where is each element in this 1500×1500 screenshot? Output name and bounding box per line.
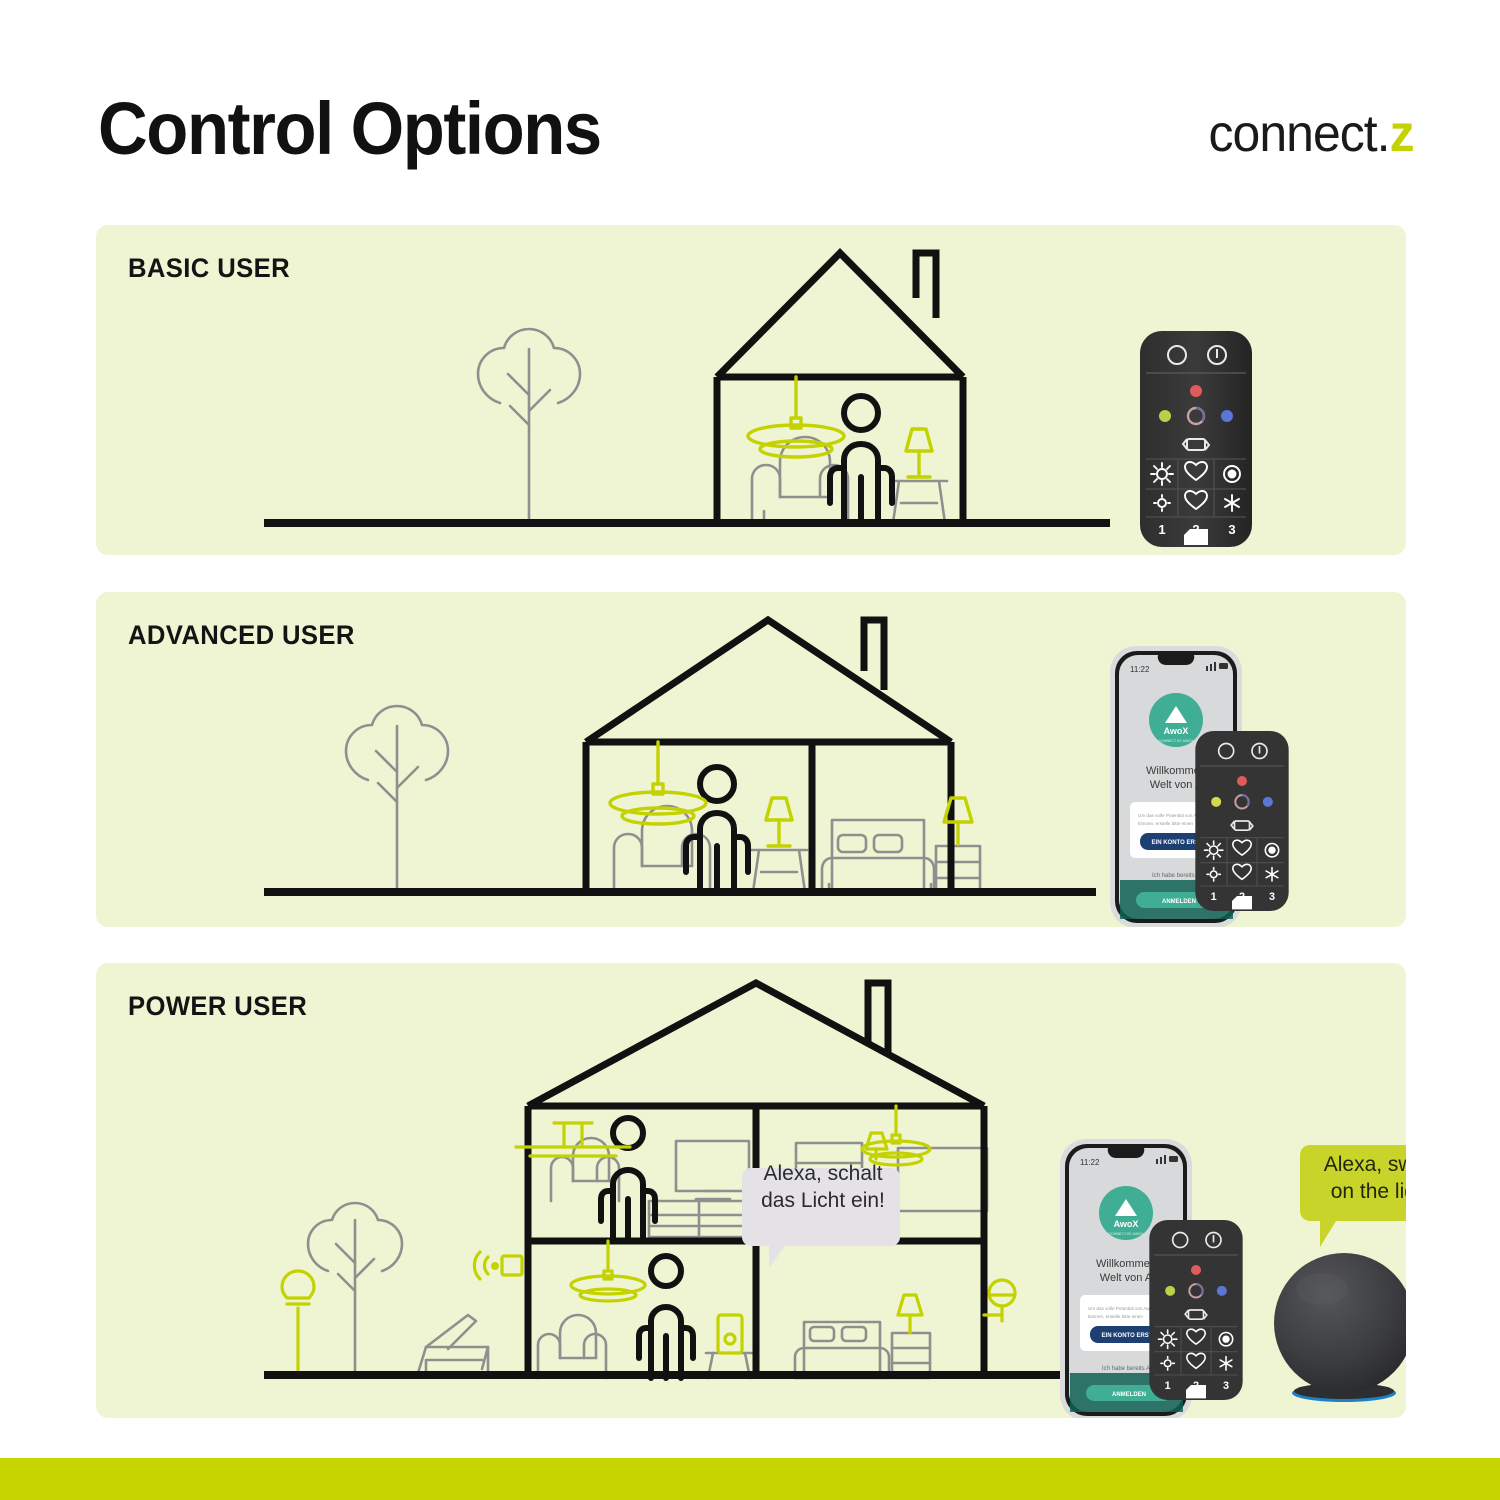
tree-icon	[308, 1203, 402, 1375]
pendant-lamp-icon-upper-right	[862, 1106, 930, 1165]
svg-text:ANMELDEN: ANMELDEN	[1162, 899, 1196, 905]
chimney-icon	[864, 620, 884, 690]
device-remote-control-advanced[interactable]: 1 2 3	[1192, 728, 1292, 914]
table-lamp-icon	[906, 429, 932, 477]
pendant-lamp-icon	[610, 742, 706, 824]
app-headline-2: Welt von A	[1100, 1272, 1153, 1284]
device-echo-dot[interactable]	[1264, 1245, 1406, 1405]
pendant-lamp-icon	[748, 377, 844, 457]
nightstand-lamp-icon	[898, 1295, 922, 1333]
app-logo-name: AwoX	[1114, 1219, 1139, 1229]
speech-bubble-gray-line2: das Licht ein!	[753, 1188, 893, 1215]
stool-icon	[891, 481, 947, 523]
app-card-text-1: Um das volle Potential von Aw	[1088, 1306, 1150, 1311]
bed-icon	[822, 820, 934, 892]
tv-icon	[676, 1141, 749, 1199]
remote-scene-1: 1	[1165, 1380, 1171, 1392]
panel-advanced-user: ADVANCED USER	[96, 592, 1406, 927]
garden-light-icon	[282, 1271, 314, 1375]
app-secondary-prompt: Ich habe bereits A	[1102, 1366, 1150, 1372]
armchair-icon	[752, 437, 848, 523]
panel-power-user: POWER USER	[96, 963, 1406, 1418]
device-remote-control-power[interactable]: 1 2 3	[1146, 1217, 1246, 1403]
phone-status-time: 11:22	[1080, 1158, 1100, 1167]
remote-dot-green	[1165, 1286, 1175, 1296]
phone-notch	[1158, 655, 1195, 665]
remote-scene-3: 3	[1228, 522, 1235, 537]
svg-text:ANMELDEN: ANMELDEN	[1112, 1392, 1146, 1398]
bed-icon-lower	[795, 1322, 889, 1378]
brand-logo-text: connect.	[1209, 105, 1390, 163]
panel-basic-user: BASIC USER	[96, 225, 1406, 555]
speech-bubble-green-line2: on the light!	[1312, 1178, 1406, 1205]
pendant-lamp-icon-lower-left	[571, 1241, 645, 1301]
app-logo-tagline: CONNECT BY AWOX	[1108, 1232, 1144, 1236]
speech-bubble-gray-line1: Alexa, schalt	[753, 1161, 893, 1188]
nightstand-icon	[936, 846, 980, 892]
app-logo-name: AwoX	[1164, 726, 1189, 736]
remote-dot-blue	[1263, 797, 1273, 807]
speech-bubble-green-text: Alexa, switch on the light!	[1312, 1151, 1406, 1206]
poster-root: Control Options connect.z BASIC USER	[0, 0, 1500, 1500]
table-lamp-icon	[766, 798, 792, 846]
person-icon	[686, 767, 748, 892]
app-card-text-2: können, erstelle bitte einen	[1088, 1314, 1143, 1319]
remote-dot-red	[1191, 1265, 1201, 1275]
remote-scene-3: 3	[1223, 1380, 1229, 1392]
stool-icon	[751, 850, 807, 892]
remote-dot-blue	[1217, 1286, 1227, 1296]
tree-icon	[478, 329, 580, 523]
remote-dot-blue	[1221, 410, 1233, 422]
echo-body	[1274, 1253, 1406, 1393]
tree-icon	[346, 706, 448, 892]
person-icon	[830, 396, 892, 523]
app-card-text-2: können, erstelle bitte einen	[1138, 821, 1193, 826]
page-title: Control Options	[98, 86, 601, 171]
remote-scene-1: 1	[1158, 522, 1165, 537]
chimney-icon	[916, 253, 936, 318]
armchair-icon-lower	[538, 1315, 606, 1378]
house-outline	[717, 253, 963, 523]
phone-notch	[1108, 1148, 1145, 1158]
wall-lamp-icon	[984, 1280, 1015, 1321]
remote-dot-red	[1237, 776, 1247, 786]
remote-dot-red	[1190, 385, 1202, 397]
dresser-icon	[649, 1201, 749, 1237]
speech-bubble-green-line1: Alexa, switch	[1312, 1151, 1406, 1178]
remote-flag-icon	[1184, 529, 1208, 545]
brand-logo: connect.z	[1209, 104, 1414, 164]
remote-dot-green	[1211, 797, 1221, 807]
remote-dot-green	[1159, 410, 1171, 422]
remote-scene-1: 1	[1211, 891, 1217, 903]
person-icon-lower	[639, 1256, 693, 1378]
device-remote-control-basic[interactable]: 1 2 3	[1136, 329, 1256, 549]
app-logo-tagline: CONNECT BY AWOX	[1158, 739, 1194, 743]
remote-scene-3: 3	[1269, 891, 1275, 903]
smart-speaker-icon	[718, 1315, 742, 1353]
wifi-sensor-icon	[474, 1252, 522, 1279]
speech-bubble-gray-text: Alexa, schalt das Licht ein!	[753, 1161, 893, 1215]
brand-logo-accent: z	[1390, 105, 1414, 163]
lounge-chair-icon	[418, 1315, 488, 1373]
bottom-accent-bar	[0, 1458, 1500, 1500]
phone-status-time: 11:22	[1130, 665, 1150, 674]
